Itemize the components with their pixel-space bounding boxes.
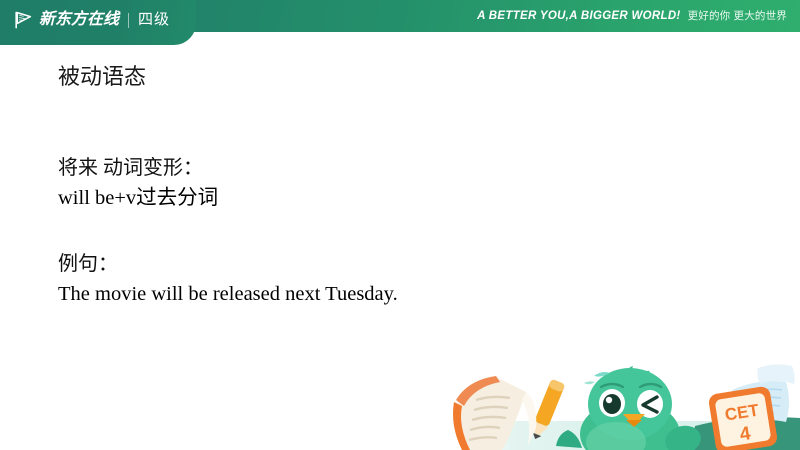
tagline-english: A BETTER YOU,A BIGGER WORLD! (477, 10, 680, 22)
logo-divider (128, 13, 129, 28)
cet-card-icon: CET 4 (708, 386, 779, 450)
illustration-svg: CET 4 (440, 356, 800, 450)
open-book-icon (453, 376, 536, 450)
future-heading: 将来 动词变形： (58, 154, 718, 183)
future-formula: will be+v过去分词 (58, 183, 718, 213)
brand-logo-group[interactable]: 新东方在线 四级 (14, 9, 170, 31)
future-tense-block: 将来 动词变形： will be+v过去分词 (58, 154, 718, 213)
example-sentence: The movie will be released next Tuesday. (58, 279, 718, 309)
tagline-chinese: 更好的你 更大的世界 (688, 8, 787, 23)
level-label: 四级 (138, 10, 170, 30)
slide-content: 被动语态 将来 动词变形： will be+v过去分词 例句： The movi… (58, 62, 718, 309)
brand-name-text: 新东方在线 (39, 10, 119, 30)
example-heading: 例句： (58, 250, 718, 279)
page-title: 被动语态 (58, 62, 718, 92)
example-block: 例句： The movie will be released next Tues… (58, 250, 718, 309)
header-tagline: A BETTER YOU,A BIGGER WORLD! 更好的你 更大的世界 (477, 8, 787, 23)
decorative-illustration: CET 4 (440, 356, 800, 450)
pennant-flag-logo-icon (14, 10, 34, 30)
slide-canvas: 新东方在线 四级 A BETTER YOU,A BIGGER WORLD! 更好… (0, 0, 800, 450)
leaf-spark-small-icon (584, 381, 595, 384)
green-bird-mascot-icon (556, 366, 704, 450)
